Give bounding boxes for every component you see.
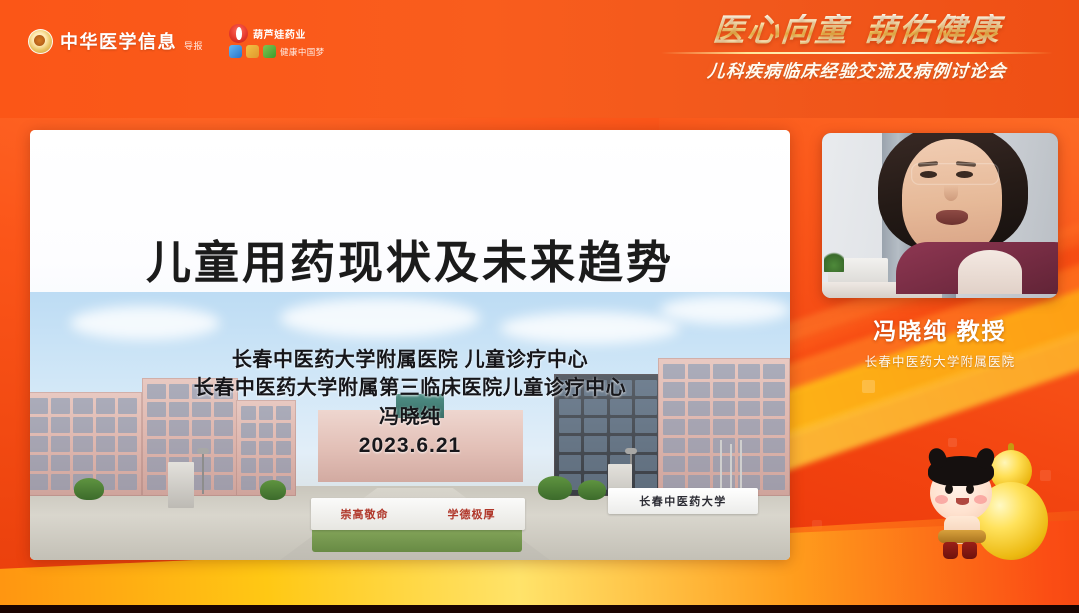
- credit-line-1: 长春中医药大学附属医院 儿童诊疗中心: [30, 346, 790, 374]
- event-title-block: 医心向童葫佑健康 儿科疾病临床经验交流及病例讨论会: [657, 14, 1057, 83]
- event-title-part1: 医心向童: [711, 12, 850, 48]
- gate-sign-text-right: 学德极厚: [448, 506, 496, 522]
- building-sign-text: 长春中医药大学: [639, 493, 727, 509]
- logo-pharma-main: 葫芦娃药业: [229, 24, 325, 43]
- speaker-nose: [944, 185, 958, 201]
- logo-pharma-name: 葫芦娃药业: [253, 26, 306, 41]
- event-title-main: 医心向童葫佑健康: [656, 14, 1059, 47]
- credit-line-2: 长春中医药大学附属第三临床医院儿童诊疗中心: [30, 374, 790, 402]
- cma-seal-icon: [28, 29, 53, 54]
- logo-china-medical-information[interactable]: 中华医学信息 导报: [28, 28, 203, 54]
- tree: [260, 480, 286, 500]
- sponsor-logo-row: 中华医学信息 导报 葫芦娃药业 健康中国梦: [28, 24, 325, 58]
- slide-title: 儿童用药现状及未来趋势: [30, 226, 790, 291]
- cloud: [280, 298, 480, 338]
- speaker-name: 冯晓纯 教授: [822, 318, 1058, 346]
- presentation-slide[interactable]: 崇高敬命 学德极厚 长春中医药大学 儿童用药现状及未来趋势 长春中医药大学附属医…: [30, 130, 790, 560]
- event-title-part2: 葫佑健康: [863, 12, 1002, 48]
- slide-credits: 长春中医药大学附属医院 儿童诊疗中心 长春中医药大学附属第三临床医院儿童诊疗中心…: [30, 346, 790, 461]
- logo-pharma-tagline: 健康中国梦: [280, 46, 325, 58]
- gate-sign-text-left: 崇高敬命: [341, 506, 389, 522]
- mascot-boot-left: [943, 542, 958, 559]
- logo-primary-name: 中华医学信息: [60, 28, 177, 54]
- speaker-eye-right: [956, 171, 973, 178]
- title-divider: [661, 52, 1053, 54]
- cloud: [660, 296, 790, 324]
- gate-pillar: [168, 462, 194, 508]
- speaker-mouth: [936, 210, 968, 225]
- mascot-child: [920, 454, 1006, 566]
- speaker-video-tile[interactable]: [822, 133, 1058, 298]
- mascot-cheek-right: [974, 495, 987, 504]
- logo-pharma-sponsor[interactable]: 葫芦娃药业 健康中国梦: [229, 24, 325, 58]
- speaker-eye-left: [920, 171, 937, 178]
- tree: [538, 476, 572, 500]
- speaker-torso: [896, 242, 1058, 294]
- speaker-organization: 长春中医药大学附属医院: [822, 351, 1058, 370]
- app-icon-blue: [229, 45, 242, 58]
- video-background-plant: [824, 250, 844, 272]
- bottom-dark-strip: [0, 605, 1079, 613]
- logo-primary-suffix: 导报: [184, 39, 203, 54]
- mascot-eye-right: [966, 484, 974, 494]
- tree: [74, 478, 104, 500]
- app-icon-yellow: [246, 45, 259, 58]
- mascot-leaf-skirt: [938, 530, 986, 543]
- tree: [578, 480, 606, 500]
- speaker-caption: 冯晓纯 教授 长春中医药大学附属医院: [822, 318, 1058, 370]
- mascot-cheek-left: [935, 495, 948, 504]
- sparkle-square: [862, 380, 875, 393]
- campus-building-sign: 长春中医药大学: [608, 488, 758, 514]
- mascot-eye-left: [945, 484, 953, 494]
- app-icon-green: [263, 45, 276, 58]
- cloud: [500, 312, 680, 344]
- speaker-figure: [878, 133, 1028, 288]
- gourd-boy-mascot: [920, 440, 1070, 570]
- logo-pharma-apps: 健康中国梦: [229, 45, 325, 58]
- slide-date: 2023.6.21: [30, 431, 790, 460]
- mascot-boot-right: [962, 542, 977, 559]
- cloud: [70, 306, 220, 340]
- credit-line-3: 冯晓纯: [30, 403, 790, 431]
- campus-gate-sign: 崇高敬命 学德极厚: [311, 498, 525, 530]
- event-subtitle: 儿科疾病临床经验交流及病例讨论会: [656, 58, 1058, 83]
- broadcast-stage: 中华医学信息 导报 葫芦娃药业 健康中国梦 医心向童葫佑健康 儿科疾病临床经验交…: [0, 0, 1079, 613]
- mascot-mouth: [956, 498, 969, 505]
- pharma-drop-icon: [229, 24, 248, 43]
